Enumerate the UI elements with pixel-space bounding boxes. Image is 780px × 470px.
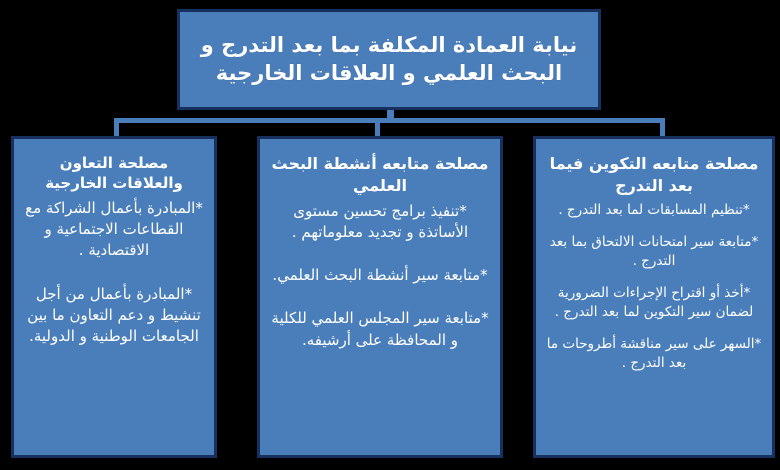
connector-horizontal-bus: [114, 118, 665, 123]
list-item: *المبادرة بأعمال من أجل تنشيط و دعم التع…: [20, 284, 208, 348]
node-cooperation-external-relations: مصلحة التعاون والعلاقات الخارجية *المباد…: [11, 136, 217, 458]
connector-drop-center: [375, 118, 380, 138]
node-bullet-list: *المبادرة بأعمال الشراكة مع القطاعات الا…: [20, 198, 208, 451]
org-chart-diagram: نيابة العمادة المكلفة بما بعد التدرج و ا…: [0, 0, 780, 470]
node-heading: مصلحة التعاون والعلاقات الخارجية: [22, 153, 206, 194]
list-item: *أخذ أو اقتراح الإجراءات الضرورية لضمان …: [542, 284, 766, 322]
list-item: *متابعة سير المجلس العلمي للكلية و المحا…: [266, 308, 494, 351]
list-item: *تنفيذ برامج تحسين مستوى الأساتذة و تجدي…: [266, 201, 494, 244]
node-heading: مصلحة متابعه التكوين فيما بعد التدرج: [544, 153, 764, 197]
node-heading: مصلحة متابعه أنشطة البحث العلمي: [268, 153, 492, 197]
node-bullet-list: *تنظيم المسابقات لما بعد التدرج . *متابع…: [542, 201, 766, 452]
connector-drop-left: [114, 118, 119, 138]
node-root-title: نيابة العمادة المكلفة بما بعد التدرج و ا…: [186, 32, 592, 87]
list-item: *السهر على سير مناقشة أطروحات ما بعد الت…: [542, 335, 766, 373]
list-item: *المبادرة بأعمال الشراكة مع القطاعات الا…: [20, 198, 208, 262]
node-bullet-list: *تنفيذ برامج تحسين مستوى الأساتذة و تجدي…: [266, 201, 494, 452]
node-scientific-research-activities-follow-up: مصلحة متابعه أنشطة البحث العلمي *تنفيذ ب…: [257, 136, 503, 458]
node-post-graduate-training-follow-up: مصلحة متابعه التكوين فيما بعد التدرج *تن…: [533, 136, 775, 458]
list-item: *متابعة سير أنشطة البحث العلمي.: [266, 265, 494, 286]
node-root: نيابة العمادة المكلفة بما بعد التدرج و ا…: [177, 9, 601, 110]
list-item: *تنظيم المسابقات لما بعد التدرج .: [542, 201, 766, 220]
connector-drop-right: [660, 118, 665, 138]
list-item: *متابعة سير امتحانات الالتحاق بما بعد ال…: [542, 233, 766, 271]
